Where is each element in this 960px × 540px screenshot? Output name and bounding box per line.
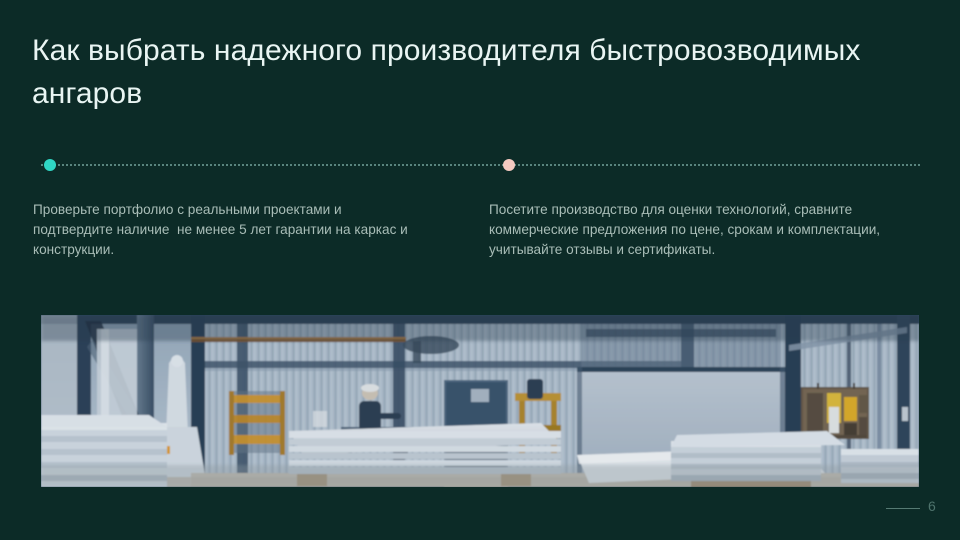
factory-interior-illustration xyxy=(41,315,919,487)
page-number: 6 xyxy=(928,499,936,513)
slide-title: Как выбрать надежного производителя быст… xyxy=(32,30,922,116)
timeline-marker-step-1 xyxy=(44,159,56,171)
timeline-marker-step-2 xyxy=(503,159,515,171)
body-text-step-1: Проверьте портфолио с реальными проектам… xyxy=(33,200,425,260)
body-text-step-2: Посетите производство для оценки техноло… xyxy=(489,200,909,260)
footer-rule xyxy=(886,508,920,509)
timeline xyxy=(41,164,920,166)
factory-interior-photo xyxy=(41,315,919,487)
slide-root: Как выбрать надежного производителя быст… xyxy=(0,0,960,540)
timeline-dotted-rule xyxy=(41,164,920,166)
